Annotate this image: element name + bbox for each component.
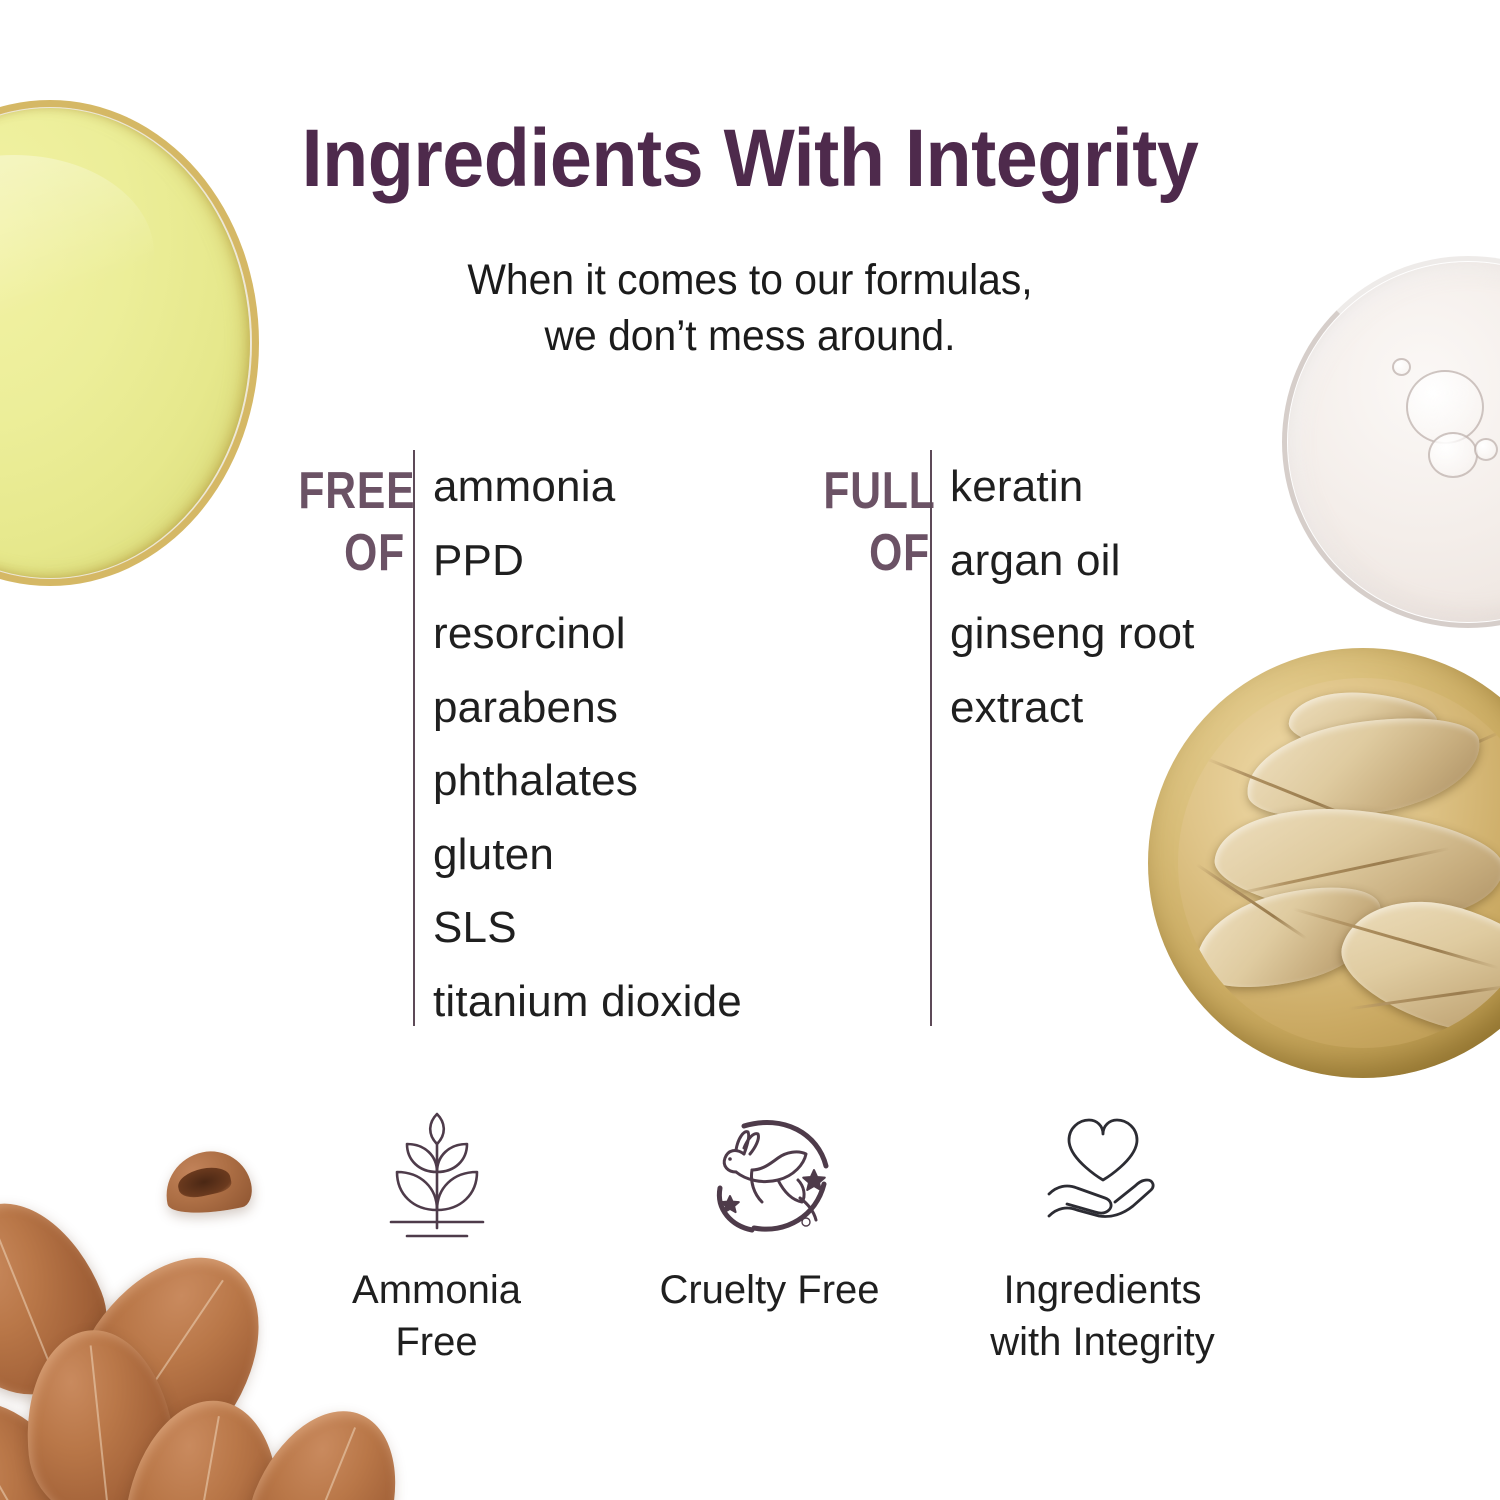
list-item: gluten: [433, 818, 742, 892]
page-subtitle: When it comes to our formulas, we don’t …: [38, 252, 1463, 364]
free-of-list: ammonia PPD resorcinol parabens phthalat…: [433, 450, 742, 1038]
badge-label: Ammonia Free: [352, 1264, 521, 1368]
ingredient-lists: FREE OF ammonia PPD resorcinol parabens …: [0, 450, 1500, 1050]
full-of-divider: [930, 450, 932, 1026]
list-item: resorcinol: [433, 597, 742, 671]
list-item: extract: [950, 671, 1195, 745]
list-item: phthalates: [433, 744, 742, 818]
badge-label: Ingredients with Integrity: [990, 1264, 1215, 1368]
leaping-bunny-icon: [700, 1110, 840, 1250]
certification-badges: Ammonia Free: [270, 1110, 1270, 1370]
list-item: ammonia: [433, 450, 742, 524]
badge-ammonia-free: Ammonia Free: [270, 1110, 603, 1368]
page-title: Ingredients With Integrity: [60, 112, 1440, 206]
list-item: parabens: [433, 671, 742, 745]
heart-in-hand-icon: [1033, 1110, 1173, 1250]
free-of-label: FREE OF: [298, 460, 405, 584]
free-of-divider: [413, 450, 415, 1026]
list-item: argan oil: [950, 524, 1195, 598]
list-item: ginseng root: [950, 597, 1195, 671]
badge-label: Cruelty Free: [659, 1264, 879, 1316]
list-item: titanium dioxide: [433, 965, 742, 1039]
plant-sprout-icon: [367, 1110, 507, 1250]
list-item: PPD: [433, 524, 742, 598]
list-item: SLS: [433, 891, 742, 965]
infographic-page: Ingredients With Integrity When it comes…: [0, 0, 1500, 1500]
full-of-label: FULL OF: [823, 460, 930, 584]
badge-ingredients-with-integrity: Ingredients with Integrity: [936, 1110, 1269, 1368]
badge-cruelty-free: Cruelty Free: [603, 1110, 936, 1316]
list-item: keratin: [950, 450, 1195, 524]
full-of-list: keratin argan oil ginseng root extract: [950, 450, 1195, 744]
